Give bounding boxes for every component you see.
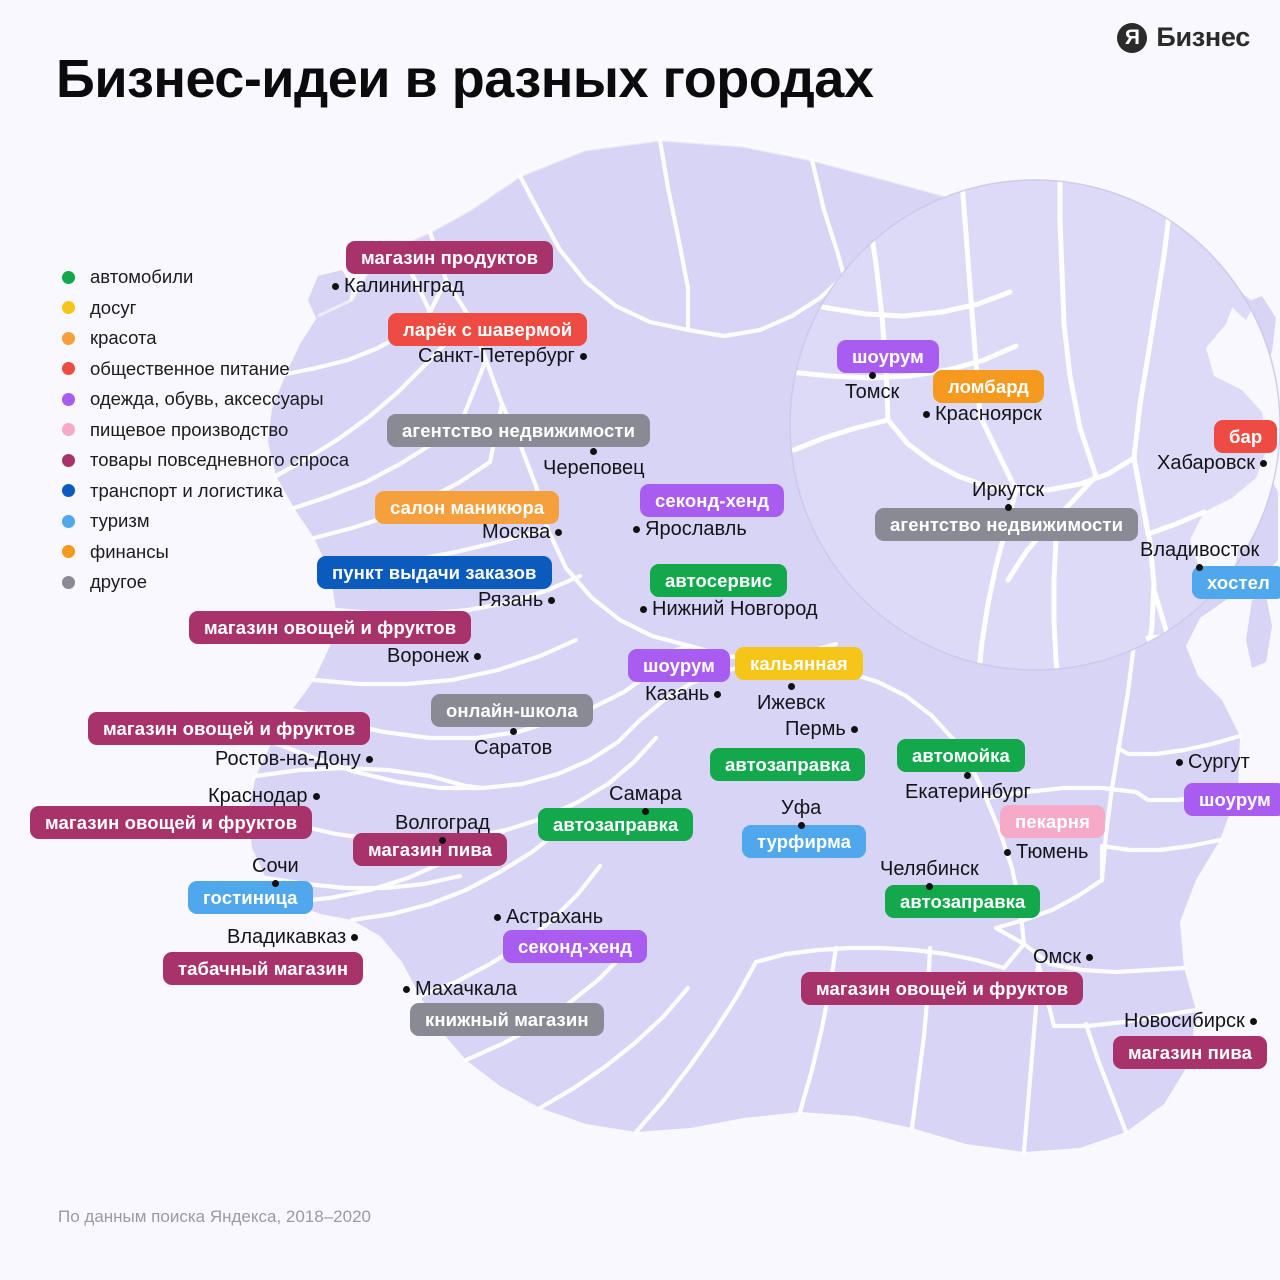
legend-item-label: пищевое производство [90,419,288,441]
idea-pill-ryazan[interactable]: пункт выдачи заказов [317,556,552,589]
yandex-logo-icon: Я [1117,23,1147,53]
infographic-root: Бизнес-идеи в разных городах Я Бизнес ав… [0,0,1280,1280]
city-name: Сургут [1188,751,1250,774]
idea-pill-moskva[interactable]: салон маникюра [375,491,559,524]
legend-color-dot [62,484,75,497]
city-name: Томск [845,381,899,404]
city-name: Астрахань [506,906,603,929]
brand-name: Бизнес [1156,22,1250,53]
idea-pill-nizhniy-novgorod[interactable]: автосервис [650,564,787,597]
legend-item-label: финансы [90,541,169,563]
city-marker-dot [964,772,971,779]
city-name: Воронеж [387,645,469,668]
city-name: Москва [482,521,550,544]
idea-pill-novosibirsk[interactable]: магазин пива [1113,1036,1267,1069]
legend-color-dot [62,545,75,558]
city-name: Владивосток [1140,539,1259,562]
yandex-business-logo: Я Бизнес [1117,22,1250,53]
city-marker-dot [494,914,501,921]
legend-color-dot [62,393,75,406]
city-label-ufa: Уфа [781,797,821,829]
city-marker-dot [926,883,933,890]
city-name: Рязань [478,589,543,612]
city-label-ekaterinburg: Екатеринбург [905,772,1031,804]
city-marker-dot [548,597,555,604]
idea-pill-astrahan[interactable]: секонд-хенд [503,930,647,963]
idea-pill-ufa[interactable]: турфирма [742,825,866,858]
city-name: Новосибирск [1124,1010,1245,1033]
city-marker-dot [640,606,647,613]
city-name: Уфа [781,797,821,820]
city-name: Омск [1033,946,1081,969]
city-name: Сочи [252,855,299,878]
idea-pill-yaroslavl[interactable]: секонд-хенд [640,484,784,517]
city-marker-dot [366,756,373,763]
legend-item-label: досуг [90,297,136,319]
idea-pill-habarovsk[interactable]: бар [1214,420,1277,453]
city-marker-dot [923,411,930,418]
legend-item-label: общественное питание [90,358,290,380]
city-marker-dot [351,934,358,941]
city-name: Ижевск [757,692,825,715]
city-marker-dot [642,808,649,815]
city-name: Нижний Новгород [652,598,818,621]
city-label-voronezh: Воронеж [387,645,481,668]
idea-pill-krasnoyarsk[interactable]: ломбард [933,370,1044,403]
city-marker-dot [1250,1018,1257,1025]
legend-color-dot [62,515,75,528]
idea-pill-ekaterinburg[interactable]: автомойка [897,739,1025,772]
city-label-ryazan: Рязань [478,589,555,612]
city-marker-dot [510,728,517,735]
city-label-vladivostok: Владивосток [1140,539,1259,571]
city-label-rostov-na-donu: Ростов-на-Дону [215,748,373,771]
city-marker-dot [1005,504,1012,511]
city-marker-dot [580,353,587,360]
city-marker-dot [714,691,721,698]
city-marker-dot [869,372,876,379]
city-name: Махачкала [415,978,517,1001]
legend-color-dot [62,271,75,284]
city-label-omsk: Омск [1033,946,1093,969]
city-label-saratov: Саратов [474,728,552,760]
idea-pill-perm[interactable]: автозаправка [710,748,865,781]
legend-item-clothing: одежда, обувь, аксессуары [62,384,349,415]
legend-item-finance: финансы [62,537,349,568]
legend-item-leisure: досуг [62,293,349,324]
idea-pill-voronezh[interactable]: магазин овощей и фруктов [189,611,471,644]
city-label-moskva: Москва [482,521,562,544]
idea-pill-omsk[interactable]: магазин овощей и фруктов [801,972,1083,1005]
idea-pill-krasnodar[interactable]: магазин овощей и фруктов [30,806,312,839]
city-name: Калининград [344,275,464,298]
city-marker-dot [439,837,446,844]
city-label-sankt-peterburg: Санкт-Петербург [418,345,587,368]
city-name: Саратов [474,737,552,760]
legend-color-dot [62,454,75,467]
city-label-kaliningrad: Калининград [332,275,464,298]
city-name: Челябинск [880,858,979,881]
city-marker-dot [633,526,640,533]
city-label-krasnodar: Краснодар [208,785,320,808]
legend-item-label: туризм [90,510,150,532]
legend-color-dot [62,301,75,314]
city-marker-dot [313,793,320,800]
legend-color-dot [62,576,75,589]
city-label-samara: Самара [609,783,682,815]
idea-pill-rostov-na-donu[interactable]: магазин овощей и фруктов [88,712,370,745]
city-marker-dot [1004,849,1011,856]
city-name: Иркутск [972,479,1044,502]
city-marker-dot [1260,460,1267,467]
city-label-nizhniy-novgorod: Нижний Новгород [640,598,818,621]
legend-item-label: товары повседневного спроса [90,449,349,471]
idea-pill-kaliningrad[interactable]: магазин продуктов [346,241,553,274]
legend-color-dot [62,423,75,436]
city-label-surgut: Сургут [1176,751,1250,774]
city-label-perm: Пермь [785,718,858,741]
legend-item-label: другое [90,571,147,593]
idea-pill-kazan[interactable]: шоурум [628,649,730,682]
city-label-cherepovec: Череповец [543,448,645,480]
city-marker-dot [788,683,795,690]
idea-pill-izhevsk[interactable]: кальянная [735,647,863,680]
city-name: Пермь [785,718,846,741]
idea-pill-surgut[interactable]: шоурум [1184,783,1280,816]
city-marker-dot [272,880,279,887]
idea-pill-sankt-peterburg[interactable]: ларёк с шавермой [388,313,587,346]
legend-item-tourism: туризм [62,506,349,537]
header: Бизнес-идеи в разных городах Я Бизнес [0,0,1280,140]
legend-item-label: транспорт и логистика [90,480,283,502]
city-marker-dot [590,448,597,455]
city-marker-dot [403,986,410,993]
city-label-novosibirsk: Новосибирск [1124,1010,1257,1033]
city-label-irkutsk: Иркутск [972,479,1044,511]
city-label-astrahan: Астрахань [494,906,603,929]
city-name: Владикавказ [227,926,346,949]
city-label-chelyabinsk: Челябинск [880,858,979,890]
city-name: Красноярск [935,403,1042,426]
legend-item-beauty: красота [62,323,349,354]
legend-item-label: красота [90,327,157,349]
city-name: Хабаровск [1157,452,1255,475]
legend-item-label: одежда, обувь, аксессуары [90,388,324,410]
city-label-tomsk: Томск [845,372,899,404]
idea-pill-tyumen[interactable]: пекарня [1000,805,1105,838]
city-name: Тюмень [1016,841,1088,864]
city-marker-dot [798,822,805,829]
idea-pill-vladikavkaz[interactable]: табачный магазин [163,952,363,985]
city-label-krasnoyarsk: Красноярск [923,403,1042,426]
legend-color-dot [62,362,75,375]
city-label-mahachkala: Махачкала [403,978,517,1001]
city-label-vladikavkaz: Владикавказ [227,926,358,949]
city-label-volgograd: Волгоград [395,812,490,844]
page-title: Бизнес-идеи в разных городах [56,48,873,110]
legend-item-other: другое [62,567,349,598]
city-name: Ростов-на-Дону [215,748,361,771]
city-marker-dot [474,653,481,660]
city-marker-dot [851,726,858,733]
city-label-sochi: Сочи [252,855,299,887]
city-name: Череповец [543,457,645,480]
city-label-kazan: Казань [645,683,721,706]
city-name: Казань [645,683,709,706]
city-name: Волгоград [395,812,490,835]
city-name: Екатеринбург [905,781,1031,804]
city-name: Санкт-Петербург [418,345,575,368]
city-marker-dot [1176,759,1183,766]
legend-item-label: автомобили [90,266,193,288]
legend-item-cars: автомобили [62,262,349,293]
source-note: По данным поиска Яндекса, 2018–2020 [58,1207,371,1227]
idea-pill-saratov[interactable]: онлайн-школа [431,694,593,727]
city-marker-dot [1086,954,1093,961]
legend-item-food_production: пищевое производство [62,415,349,446]
legend-item-everyday_goods: товары повседневного спроса [62,445,349,476]
city-label-tyumen: Тюмень [1004,841,1088,864]
city-marker-dot [555,529,562,536]
idea-pill-irkutsk[interactable]: агентство недвижимости [875,508,1138,541]
idea-pill-cherepovec[interactable]: агентство недвижимости [387,414,650,447]
city-label-yaroslavl: Ярославль [633,518,747,541]
legend-item-catering: общественное питание [62,354,349,385]
city-marker-dot [1196,564,1203,571]
city-name: Самара [609,783,682,806]
city-label-habarovsk: Хабаровск [1157,452,1267,475]
city-label-izhevsk: Ижевск [757,683,825,715]
idea-pill-tomsk[interactable]: шоурум [837,340,939,373]
category-legend: автомобилидосугкрасотаобщественное питан… [62,262,349,598]
idea-pill-mahachkala[interactable]: книжный магазин [410,1003,604,1036]
city-name: Краснодар [208,785,308,808]
legend-color-dot [62,332,75,345]
legend-item-transport_logistics: транспорт и логистика [62,476,349,507]
city-name: Ярославль [645,518,747,541]
